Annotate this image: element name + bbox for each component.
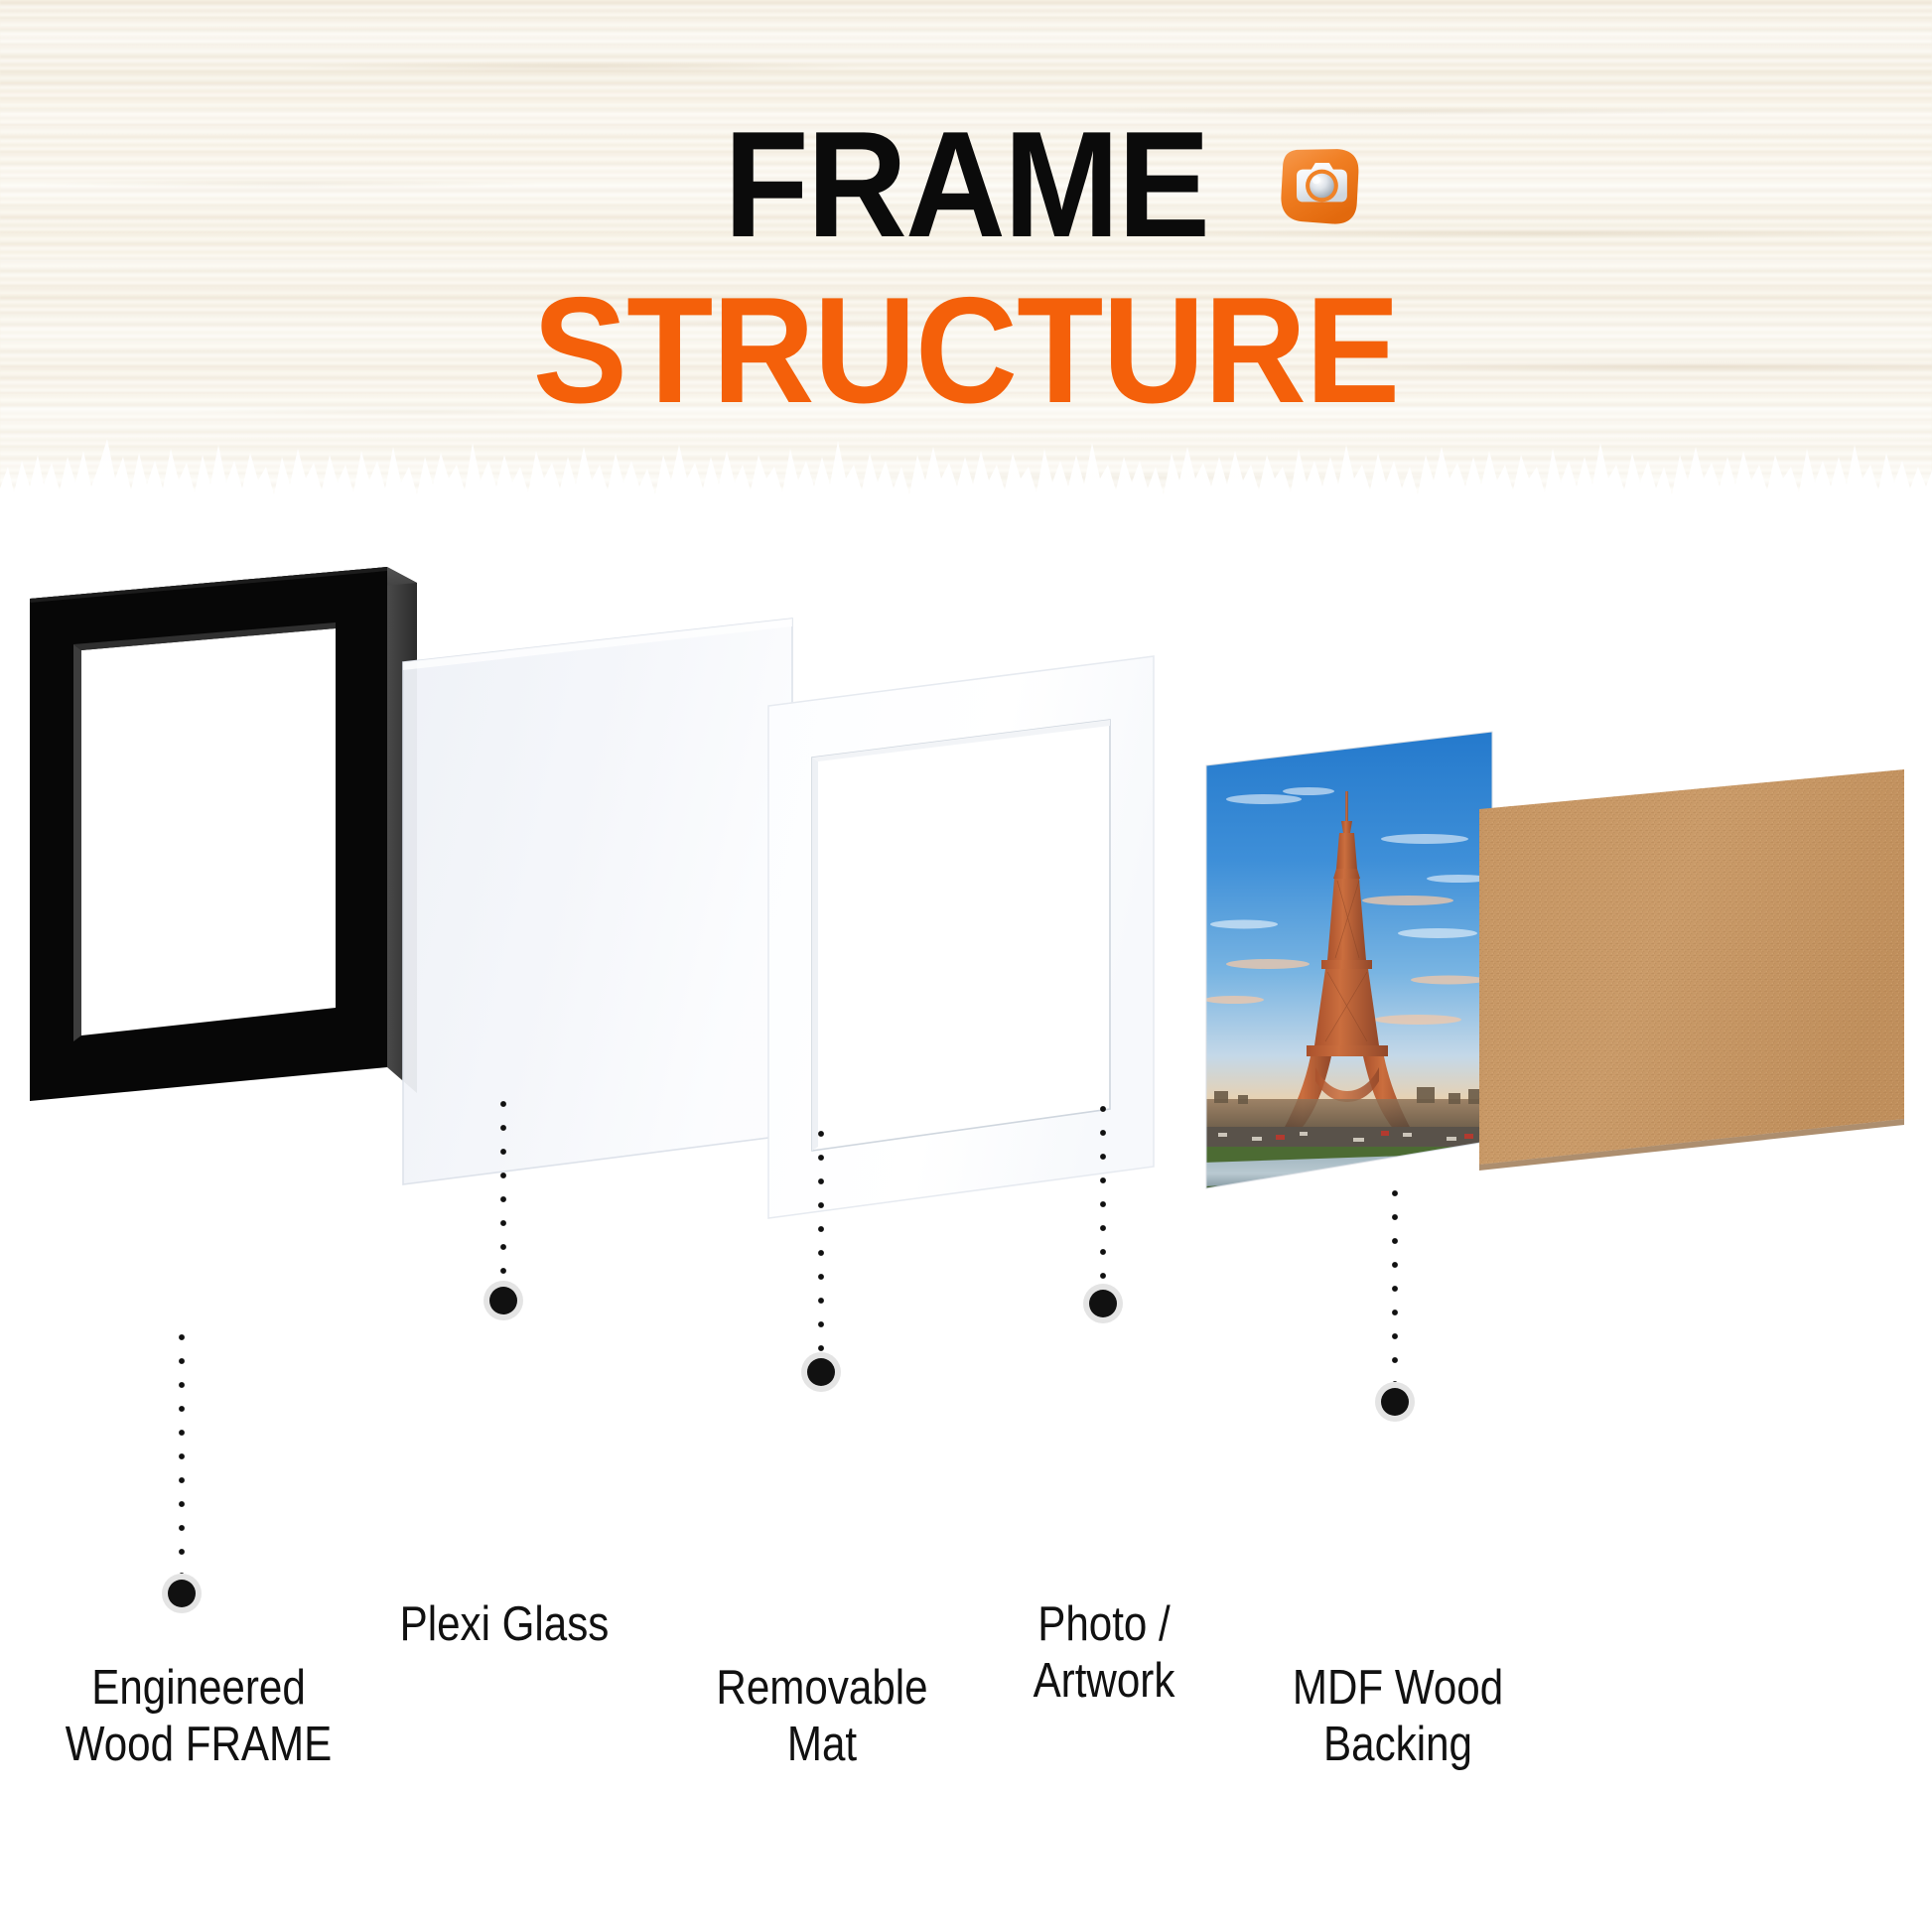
label-line-2: Wood FRAME xyxy=(37,1717,361,1773)
leader-line-backing xyxy=(1388,1181,1402,1420)
page-title: FRAME xyxy=(724,111,1208,259)
leader-dots xyxy=(817,1122,825,1352)
leader-dots xyxy=(1391,1181,1399,1382)
leader-endpoint xyxy=(168,1580,196,1607)
label-line-1: Engineered xyxy=(37,1660,361,1717)
label-line-1: Removable xyxy=(660,1660,985,1717)
label-mdf-wood-backing: MDF Wood Backing xyxy=(1236,1660,1561,1774)
leader-line-photo xyxy=(1096,1097,1110,1320)
label-line-2: Mat xyxy=(660,1717,985,1773)
page-subtitle: STRUCTURE xyxy=(58,275,1873,426)
leader-endpoint xyxy=(489,1287,517,1314)
label-line-2: Artwork xyxy=(942,1653,1267,1710)
label-line-1: Photo / xyxy=(942,1596,1267,1653)
camera-icon xyxy=(1279,145,1360,226)
leader-endpoint xyxy=(1381,1388,1409,1416)
leader-dots xyxy=(499,1092,507,1281)
leader-line-glass xyxy=(496,1092,510,1320)
label-line-1: Plexi Glass xyxy=(343,1596,667,1653)
leader-dots xyxy=(1099,1097,1107,1284)
label-line-2: Backing xyxy=(1236,1717,1561,1773)
leader-line-mat xyxy=(814,1122,828,1390)
label-photo-artwork: Photo / Artwork xyxy=(942,1596,1267,1711)
label-line-1: MDF Wood xyxy=(1236,1660,1561,1717)
mdf-wood-backing-layer[interactable] xyxy=(1479,769,1906,1186)
label-removable-mat: Removable Mat xyxy=(660,1660,985,1774)
label-engineered-wood-frame: Engineered Wood FRAME xyxy=(37,1660,361,1774)
page-title-block: FRAME STRUCTURE xyxy=(0,111,1932,426)
photo-artwork-layer[interactable] xyxy=(1204,730,1494,1196)
exploded-frame-diagram xyxy=(0,556,1932,1449)
plexi-glass-layer[interactable] xyxy=(397,611,814,1206)
label-plexi-glass: Plexi Glass xyxy=(343,1596,667,1653)
leader-dots xyxy=(178,1325,186,1574)
leader-line-frame xyxy=(175,1325,189,1608)
leader-endpoint xyxy=(1089,1290,1117,1317)
leader-endpoint xyxy=(807,1358,835,1386)
